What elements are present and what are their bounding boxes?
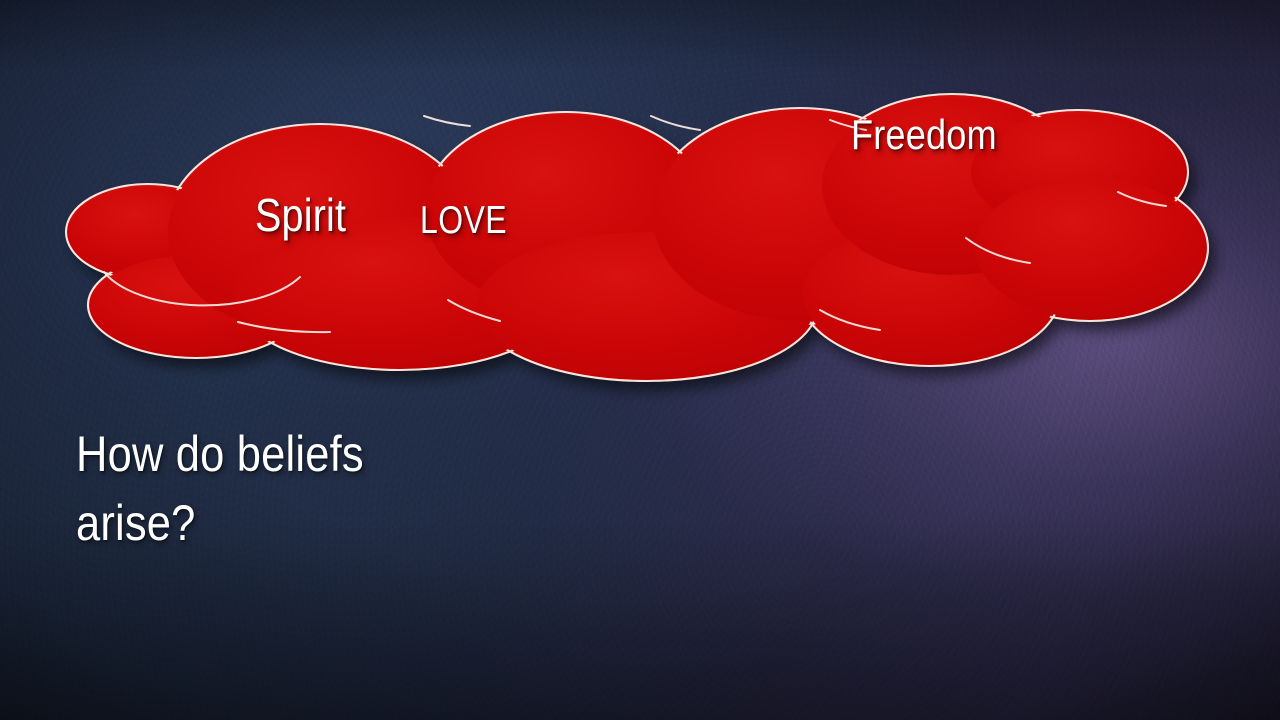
cloud-word-freedom: Freedom: [851, 114, 997, 156]
question-line-2: arise?: [76, 489, 476, 558]
slide-question: How do beliefs arise?: [76, 420, 476, 558]
question-line-1: How do beliefs: [76, 420, 476, 489]
cloud-word-love: LOVE: [420, 201, 507, 240]
thought-cloud-shape: [0, 0, 1280, 720]
slide-canvas: Spirit LOVE Freedom How do beliefs arise…: [0, 0, 1280, 720]
cloud-word-spirit: Spirit: [255, 192, 346, 238]
